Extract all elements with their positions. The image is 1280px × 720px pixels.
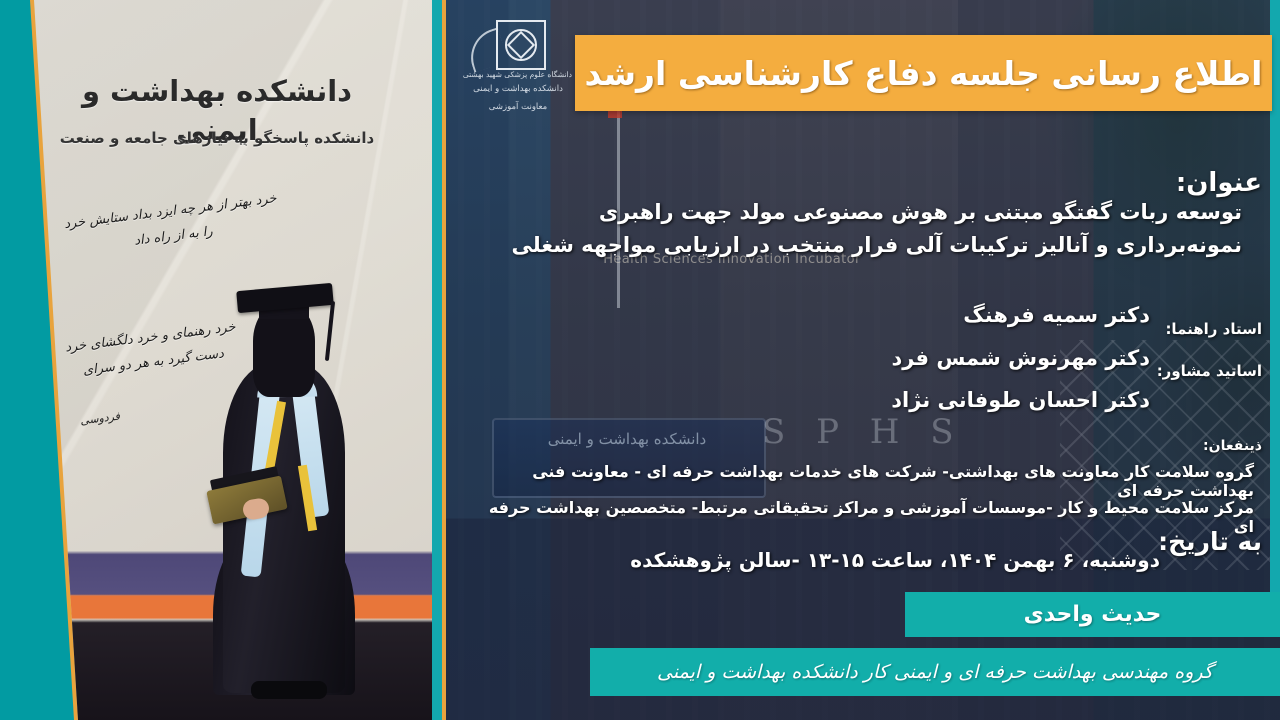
footer-text: گروه مهندسی بهداشت حرفه ای و ایمنی کار د… [657,661,1213,683]
date-label: به تاریخ: [1158,527,1262,556]
stakeholders-line-2: مرکز سلامت محیط و کار -موسسات آموزشی و م… [464,498,1254,536]
date-value: دوشنبه، ۶ بهمن ۱۴۰۴، ساعت ۱۵-۱۳ -سالن پژ… [460,548,1160,572]
graduate-photo-panel: دانشکده بهداشت و ایمنی دانشکده پاسخگو به… [0,0,432,720]
logo-university-name: دانشگاه علوم پزشکی شهید بهشتی [464,70,572,79]
backdrop-poem-author: فردوسی [60,407,141,430]
stakeholders-line-1: گروه سلامت کار معاونت های بهداشتی- شرکت … [464,462,1254,500]
thesis-title-label: عنوان: [1176,168,1262,198]
advisor-name-1: دکتر مهرنوش شمس فرد [850,346,1150,370]
left-gold-edge [442,0,446,720]
university-logo: دانشگاه علوم پزشکی شهید بهشتی دانشکده به… [464,18,572,130]
logo-faculty-name: دانشکده بهداشت و ایمنی [464,84,572,94]
footer-strip: گروه مهندسی بهداشت حرفه ای و ایمنی کار د… [590,648,1280,696]
content-panel: پژوهشکده علوم بهداشتی و محیط زیست Health… [432,0,1280,720]
school-watermark-text: S P H S [762,412,1092,452]
announcement-banner: اطلاع رسانی جلسه دفاع کارشناسی ارشد [575,35,1272,111]
announcement-banner-text: اطلاع رسانی جلسه دفاع کارشناسی ارشد [585,54,1263,93]
student-name: حدیث واحدی [1024,602,1162,627]
shoes [251,681,327,699]
student-name-block: حدیث واحدی [905,592,1280,637]
supervisor-label: استاد راهنما: [1165,320,1262,338]
cap-tassel [325,301,335,361]
backdrop-poem-first: خرد بهتر از هر چه ایزد بداد ستایش خرد را… [60,187,284,263]
graduate-figure [195,285,385,705]
advisors-label: اساتید مشاور: [1157,362,1262,380]
left-teal-edge [432,0,442,720]
mortarboard-cap [236,283,334,313]
advisor-name-2: دکتر احسان طوفانی نژاد [850,388,1150,412]
thesis-title-value: توسعه ربات گفتگو مبتنی بر هوش مصنوعی مول… [472,196,1242,261]
supervisor-name: دکتر سمیه فرهنگ [850,303,1150,327]
backdrop-school-motto: دانشکده پاسخگو به نیازهای جامعه و صنعت [52,128,382,148]
logo-department-name: معاونت آموزشی [464,102,572,112]
defense-announcement-poster: دانشکده بهداشت و ایمنی دانشکده پاسخگو به… [0,0,1280,720]
facade-banner-text: دانشکده بهداشت و ایمنی [502,430,752,448]
stakeholders-label: ذینفعان: [1203,438,1262,454]
